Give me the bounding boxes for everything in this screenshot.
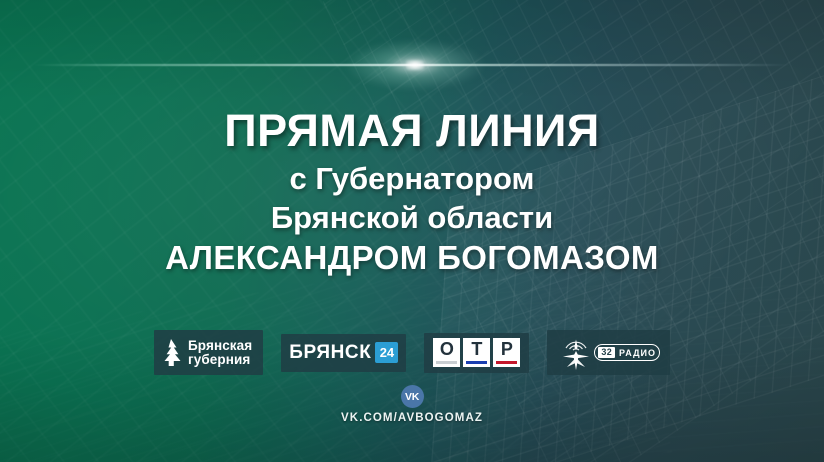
logo-32-radio-number: 32 bbox=[598, 347, 615, 358]
logo-line-2: губерния bbox=[188, 353, 252, 367]
logo-bryansk-24[interactable]: БРЯНСК 24 bbox=[281, 334, 406, 372]
logo-otr-bar-red bbox=[496, 361, 517, 364]
logo-otr-letter-p: Р bbox=[501, 339, 513, 359]
official-name: АЛЕКСАНДРОМ БОГОМАЗОМ bbox=[0, 240, 824, 276]
title-block: ПРЯМАЯ ЛИНИЯ с Губернатором Брянской обл… bbox=[0, 108, 824, 276]
broadcast-title-card: ПРЯМАЯ ЛИНИЯ с Губернатором Брянской обл… bbox=[0, 0, 824, 462]
logo-bryanskaya-guberniya-wordmark: Брянская губерния bbox=[188, 339, 252, 367]
main-title: ПРЯМАЯ ЛИНИЯ bbox=[0, 108, 824, 153]
logo-line-1: Брянская bbox=[188, 339, 252, 353]
logo-otr[interactable]: О Т Р bbox=[424, 333, 529, 373]
logo-otr-cell-o: О bbox=[433, 338, 460, 367]
logo-bryansk-24-word: БРЯНСК bbox=[289, 342, 371, 364]
subtitle-line-2: Брянской области bbox=[0, 200, 824, 237]
logo-otr-bar-blue bbox=[466, 361, 487, 364]
radio-tower-star-icon bbox=[557, 334, 595, 371]
partner-logo-strip: Брянская губерния БРЯНСК 24 О Т Р bbox=[0, 330, 824, 375]
logo-otr-bar-white bbox=[436, 361, 457, 364]
logo-32-radio-word: РАДИО bbox=[619, 348, 656, 358]
logo-32-radio[interactable]: 32 РАДИО bbox=[547, 330, 670, 375]
logo-otr-letter-t: Т bbox=[471, 339, 482, 359]
logo-bryanskaya-guberniya[interactable]: Брянская губерния bbox=[154, 330, 263, 375]
logo-otr-letter-o: О bbox=[440, 339, 454, 359]
vk-url-label[interactable]: VK.COM/AVBOGOMAZ bbox=[341, 412, 483, 424]
vk-icon[interactable]: VK bbox=[401, 385, 424, 408]
logo-32-radio-pill: 32 РАДИО bbox=[594, 344, 660, 361]
logo-otr-cell-p: Р bbox=[493, 338, 520, 367]
social-block[interactable]: VK VK.COM/AVBOGOMAZ bbox=[0, 385, 824, 424]
subtitle-line-1: с Губернатором bbox=[0, 161, 824, 198]
logo-otr-cell-t: Т bbox=[463, 338, 490, 367]
fir-tree-emblem-icon bbox=[163, 339, 182, 366]
logo-bryansk-24-badge: 24 bbox=[375, 342, 398, 363]
